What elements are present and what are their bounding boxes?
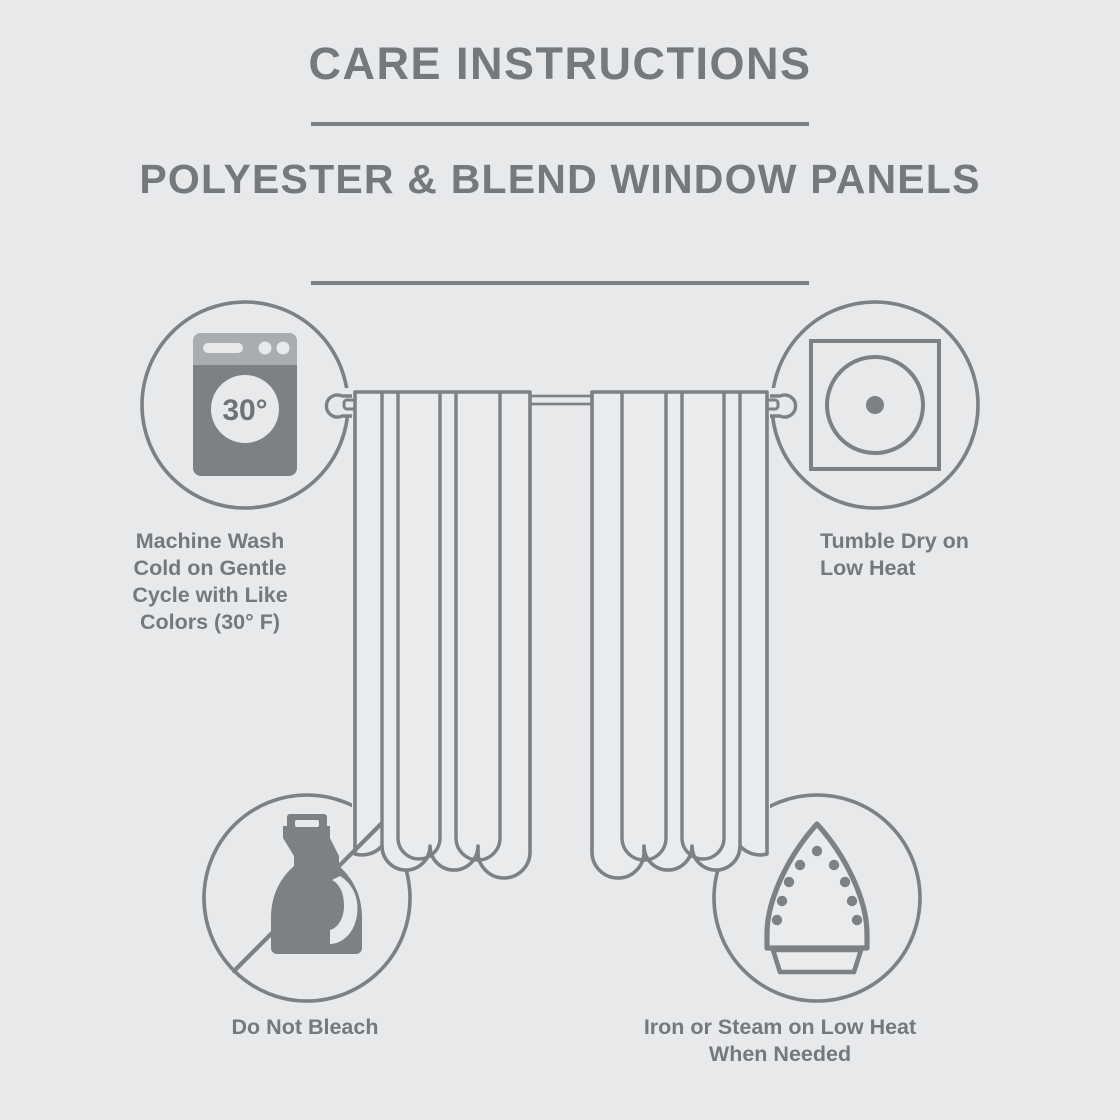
curtain-panel-left: [355, 392, 530, 878]
care-instructions-card: CARE INSTRUCTIONS POLYESTER & BLEND WIND…: [0, 0, 1120, 1120]
caption-do-not-bleach: Do Not Bleach: [155, 1014, 455, 1041]
washing-machine-icon: 30°: [193, 333, 297, 476]
tumble-dry-icon: [811, 341, 939, 469]
caption-tumble-dry: Tumble Dry on Low Heat: [820, 528, 1120, 582]
iron-icon: [767, 824, 867, 972]
curtain-panel-right: [592, 392, 767, 878]
caption-iron: Iron or Steam on Low Heat When Needed: [615, 1014, 945, 1068]
iron-base: [773, 950, 861, 972]
iron-soleplate: [767, 824, 867, 948]
caption-machine-wash: Machine Wash Cold on Gentle Cycle with L…: [60, 528, 360, 636]
wash-temperature-label: 30°: [222, 394, 267, 427]
